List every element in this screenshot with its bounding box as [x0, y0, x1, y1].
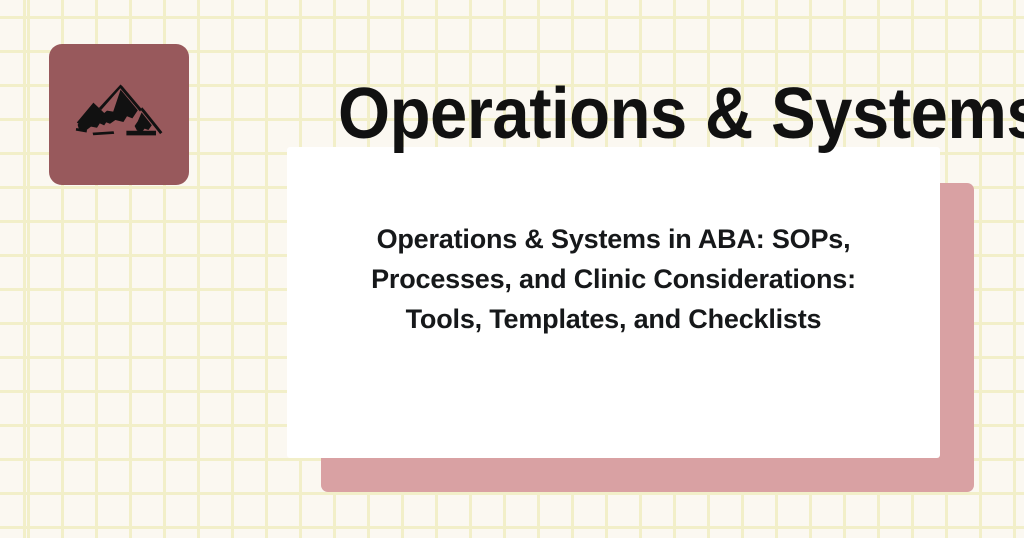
content-card: Operations & Systems in ABA: SOPs, Proce… — [287, 147, 940, 458]
content-heading: Operations & Systems in ABA: SOPs, Proce… — [287, 147, 940, 339]
logo-tile — [49, 44, 189, 185]
page-title: Operations & Systems — [338, 78, 943, 150]
mountain-icon — [63, 59, 175, 171]
slide-canvas: Operations & Systems Operations & System… — [0, 0, 1024, 538]
